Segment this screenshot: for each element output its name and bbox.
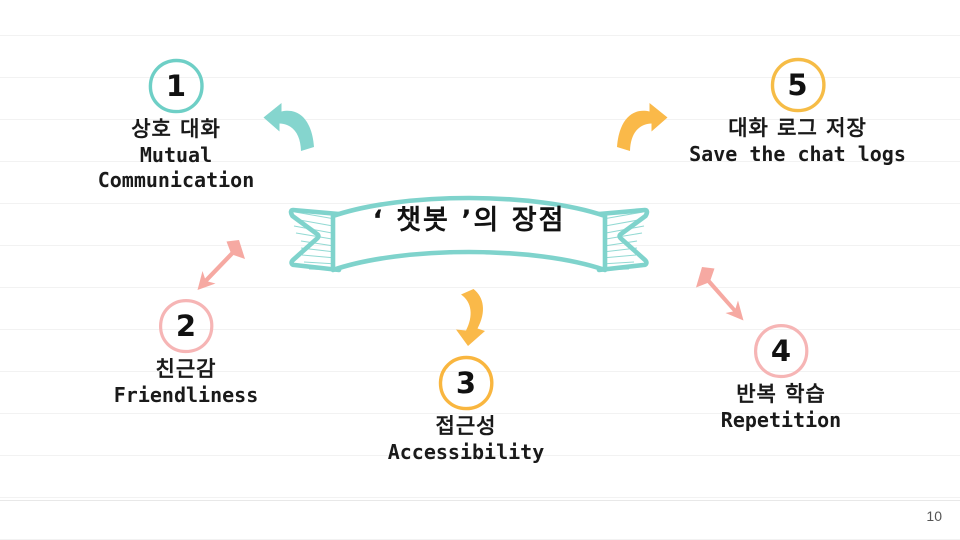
item-2-number-circle: 2 (157, 297, 215, 355)
item-2-title-en-line1: Friendliness (72, 383, 300, 408)
item-4-title-en-line1: Repetition (667, 408, 895, 433)
title-banner: ‘ 챗봇 ’의 장점 (283, 186, 655, 286)
item-1-number-circle: 1 (147, 57, 205, 115)
item-4-number-circle: 4 (752, 322, 810, 380)
item-3-number: 3 (456, 366, 476, 400)
item-5-title-ko: 대화 로그 저장 (665, 116, 930, 142)
item-3-title-ko: 접근성 (352, 414, 580, 440)
item-3-title-en-line1: Accessibility (352, 440, 580, 465)
item-1-title-en-line2: Communication (62, 168, 290, 193)
item-3-number-circle: 3 (437, 354, 495, 412)
item-1-number: 1 (166, 69, 186, 103)
slide-canvas: 1 상호 대화 Mutual Communication 5 대화 로그 저장 … (0, 0, 960, 540)
arrow-up-right-yellow (604, 95, 676, 163)
item-5-number-circle: 5 (769, 56, 827, 114)
item-5-number: 5 (787, 68, 807, 102)
footer-divider (0, 500, 960, 501)
item-5[interactable]: 5 대화 로그 저장 Save the chat logs (665, 56, 930, 167)
arrow-down-left-pink (191, 234, 253, 296)
item-2-number: 2 (176, 309, 196, 343)
item-4-title-ko: 반복 학습 (667, 382, 895, 408)
item-2[interactable]: 2 친근감 Friendliness (72, 297, 300, 408)
arrow-down-right-pink (688, 262, 750, 330)
item-3[interactable]: 3 접근성 Accessibility (352, 354, 580, 465)
page-number: 10 (926, 508, 942, 524)
arrow-down-yellow (439, 285, 495, 351)
item-4-number: 4 (771, 334, 791, 368)
item-4[interactable]: 4 반복 학습 Repetition (667, 322, 895, 433)
item-2-title-ko: 친근감 (72, 357, 300, 383)
banner-title: ‘ 챗봇 ’의 장점 (283, 198, 655, 237)
arrow-up-left-teal (255, 95, 327, 163)
item-5-title-en-line1: Save the chat logs (665, 142, 930, 167)
